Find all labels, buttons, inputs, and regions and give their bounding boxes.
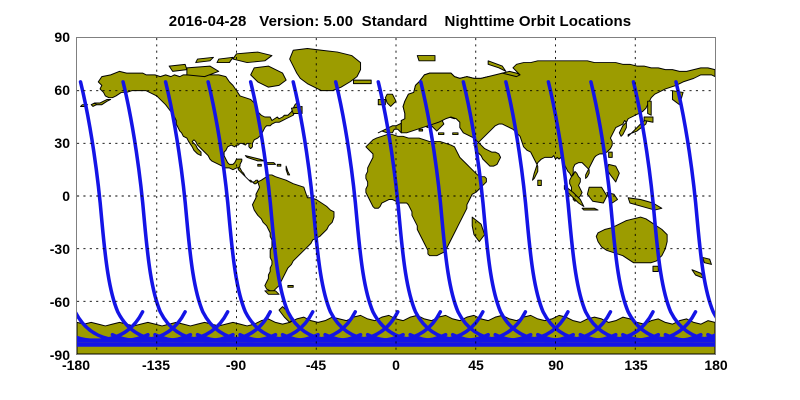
orbit-map-figure: 2016-04-28 Version: 5.00 Standard Nightt… bbox=[0, 0, 800, 400]
land-cuba bbox=[245, 156, 264, 161]
y-tick-label: 60 bbox=[54, 82, 70, 98]
x-axis-tick-labels: -180 -135 -90 -45 0 45 90 135 180 bbox=[76, 357, 716, 379]
land-new-guinea bbox=[628, 198, 662, 210]
land-arctic-islet-2 bbox=[196, 57, 214, 62]
land-puerto-rico bbox=[277, 164, 281, 166]
land-lesser-antilles bbox=[286, 166, 290, 175]
land-africa bbox=[366, 135, 487, 256]
x-tick-label: -90 bbox=[226, 357, 246, 373]
land-greenland bbox=[290, 49, 361, 91]
x-tick-label: 90 bbox=[548, 357, 564, 373]
land-iceland bbox=[353, 80, 371, 84]
land-tasmania bbox=[653, 266, 658, 271]
x-tick-label: -180 bbox=[62, 357, 90, 373]
world-map-svg bbox=[77, 38, 715, 354]
x-tick-label: -135 bbox=[142, 357, 170, 373]
land-aleutian-islet-2 bbox=[91, 103, 96, 107]
land-java bbox=[582, 208, 598, 210]
land-tierra-del-fuego bbox=[265, 291, 279, 295]
y-tick-label: -30 bbox=[50, 241, 70, 257]
x-tick-label: 45 bbox=[468, 357, 484, 373]
land-novaya-zemlya bbox=[488, 61, 506, 72]
x-tick-label: 135 bbox=[624, 357, 647, 373]
land-falklands bbox=[288, 286, 293, 288]
y-tick-label: -60 bbox=[50, 294, 70, 310]
land-great-britain bbox=[385, 94, 396, 106]
y-tick-label: 30 bbox=[54, 135, 70, 151]
chart-title: 2016-04-28 Version: 5.00 Standard Nightt… bbox=[0, 13, 800, 30]
plot-area bbox=[76, 37, 716, 355]
y-axis-tick-labels: 90 60 30 0 -30 -60 -90 bbox=[0, 37, 70, 355]
land-taiwan bbox=[609, 152, 613, 157]
land-ellesmere bbox=[233, 52, 272, 63]
y-tick-label: 90 bbox=[54, 29, 70, 45]
x-tick-label: 0 bbox=[392, 357, 400, 373]
land-borneo bbox=[587, 187, 606, 203]
land-crete bbox=[439, 133, 444, 135]
land-baffin bbox=[251, 66, 286, 87]
land-new-zealand-north bbox=[703, 257, 712, 264]
land-aleutians bbox=[95, 99, 111, 104]
land-arctic-islet-1 bbox=[217, 57, 233, 62]
land-sicily bbox=[419, 129, 423, 131]
land-north-america bbox=[98, 71, 298, 183]
land-jamaica bbox=[258, 164, 262, 166]
land-sakhalin bbox=[648, 101, 652, 115]
land-sri-lanka bbox=[538, 180, 542, 185]
land-madagascar bbox=[472, 217, 484, 242]
y-tick-label: 0 bbox=[62, 188, 70, 204]
land-banks-island bbox=[169, 64, 187, 71]
x-tick-label: 180 bbox=[704, 357, 727, 373]
x-tick-label: -45 bbox=[306, 357, 326, 373]
land-cyprus bbox=[453, 133, 458, 135]
land-svalbard bbox=[417, 56, 435, 61]
